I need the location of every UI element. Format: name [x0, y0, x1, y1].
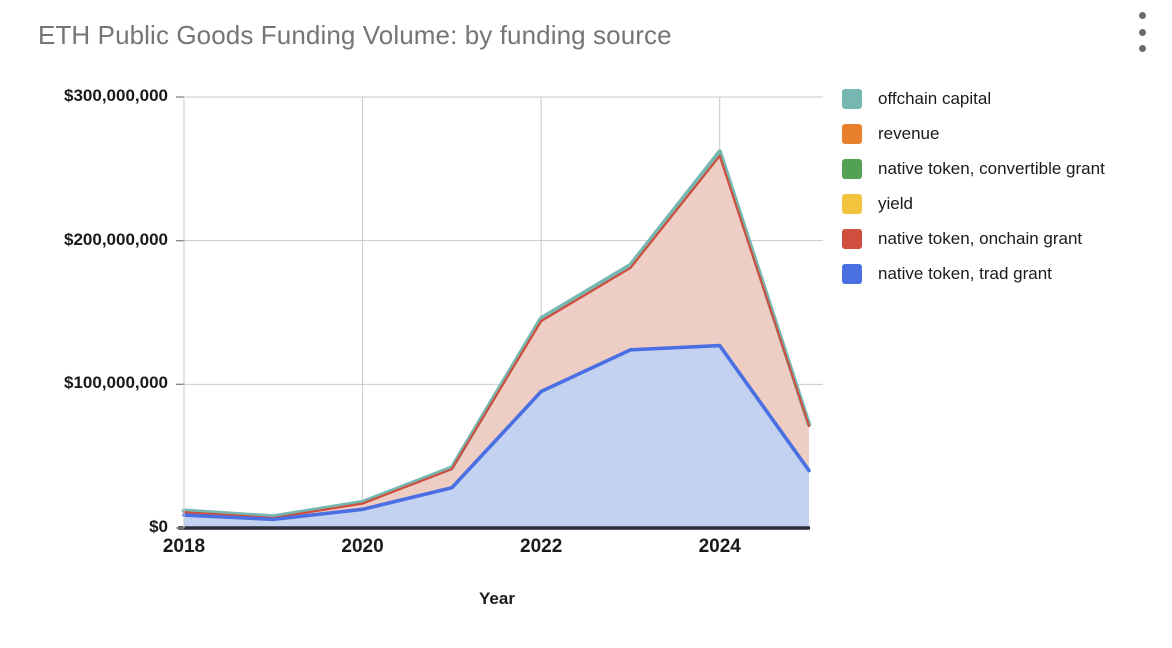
y-tick-label-3: $300,000,000	[28, 86, 168, 106]
legend-item-revenue[interactable]: revenue	[842, 123, 1152, 144]
y-tick-label-1: $100,000,000	[28, 373, 168, 393]
chart-legend: offchain capitalrevenuenative token, con…	[842, 88, 1152, 298]
legend-item-native-token-onchain-grant[interactable]: native token, onchain grant	[842, 228, 1152, 249]
legend-item-label: revenue	[878, 123, 939, 144]
legend-item-label: yield	[878, 193, 913, 214]
y-tick-label-2: $200,000,000	[28, 230, 168, 250]
legend-swatch-icon	[842, 194, 862, 214]
y-tick-label-0: $0	[28, 517, 168, 537]
legend-item-label: native token, onchain grant	[878, 228, 1082, 249]
x-tick-label-1: 2020	[318, 536, 408, 558]
legend-swatch-icon	[842, 264, 862, 284]
legend-swatch-icon	[842, 159, 862, 179]
legend-item-native-token-convertible-grant[interactable]: native token, convertible grant	[842, 158, 1152, 179]
x-tick-label-3: 2024	[675, 536, 765, 558]
x-tick-label-0: 2018	[139, 536, 229, 558]
legend-swatch-icon	[842, 89, 862, 109]
legend-item-label: offchain capital	[878, 88, 991, 109]
x-axis-title: Year	[0, 589, 994, 609]
legend-item-label: native token, convertible grant	[878, 158, 1105, 179]
legend-swatch-icon	[842, 229, 862, 249]
legend-item-yield[interactable]: yield	[842, 193, 1152, 214]
chart-page: ETH Public Goods Funding Volume: by fund…	[0, 0, 1172, 648]
legend-item-label: native token, trad grant	[878, 263, 1052, 284]
legend-item-offchain-capital[interactable]: offchain capital	[842, 88, 1152, 109]
x-tick-label-2: 2022	[496, 536, 586, 558]
legend-swatch-icon	[842, 124, 862, 144]
legend-item-native-token-trad-grant[interactable]: native token, trad grant	[842, 263, 1152, 284]
stacked-area-series	[184, 152, 809, 528]
